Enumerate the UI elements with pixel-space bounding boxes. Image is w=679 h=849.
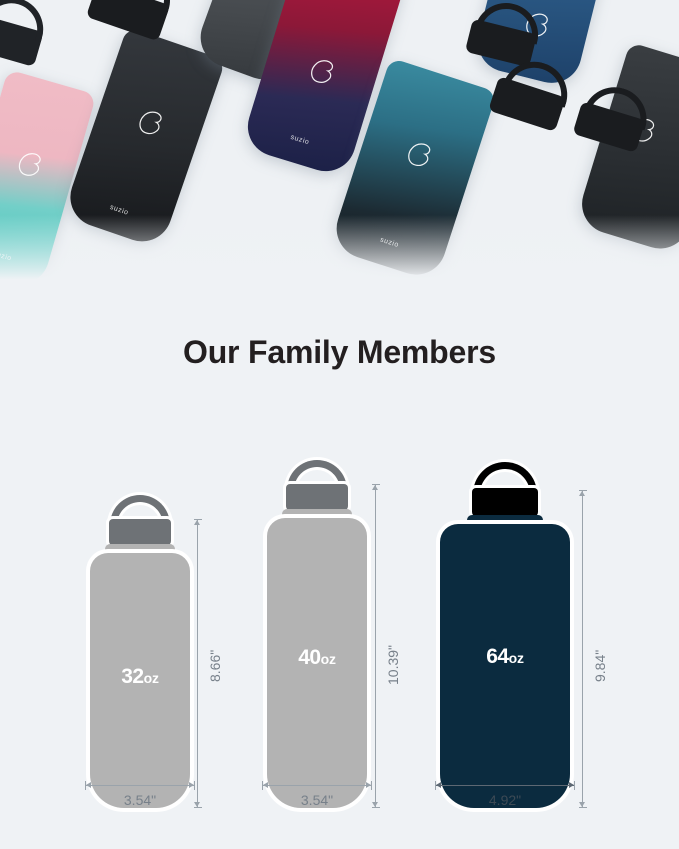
height-dimension-line-40oz <box>375 484 376 808</box>
bottle-capacity-label-64oz: 64oz <box>440 645 570 669</box>
width-label-40oz: 3.54" <box>255 792 379 808</box>
brand-logo-icon <box>9 145 47 186</box>
photo-bottle-brand: suzio <box>290 133 311 145</box>
height-label-40oz: 10.39" <box>383 642 403 688</box>
bottle-cap-40oz <box>286 484 348 511</box>
width-dimension-line-32oz <box>85 785 195 786</box>
height-label-64oz: 9.84" <box>590 647 610 685</box>
product-photo: suzio suzio suzio suzio <box>0 0 679 285</box>
width-dimension-line-64oz <box>435 785 575 786</box>
bottle-cap-32oz <box>109 519 171 546</box>
bottle-diagram-32oz: 32oz 8.66" 3.54" <box>75 440 205 849</box>
height-label-32oz: 8.66" <box>205 647 225 685</box>
bottle-capacity-label-40oz: 40oz <box>267 646 367 670</box>
width-label-64oz: 4.92" <box>430 792 580 808</box>
size-comparison-diagram: 32oz 8.66" 3.54" 40oz 10.39" <box>0 440 679 849</box>
width-dimension-line-40oz <box>262 785 372 786</box>
brand-logo-icon <box>301 52 340 93</box>
brand-logo-icon <box>129 103 168 145</box>
capacity-unit: oz <box>509 650 524 666</box>
width-label-32oz: 3.54" <box>75 792 205 808</box>
capacity-unit: oz <box>144 670 159 686</box>
capacity-unit: oz <box>321 651 336 667</box>
photo-bottle-brand: suzio <box>0 250 13 262</box>
page-title: Our Family Members <box>0 334 679 371</box>
bottle-diagram-40oz: 40oz 10.39" 3.54" <box>255 440 390 849</box>
capacity-number: 32 <box>121 665 143 688</box>
capacity-number: 64 <box>486 645 508 668</box>
height-dimension-line-32oz <box>197 519 198 808</box>
brand-logo-icon <box>398 135 437 177</box>
bottle-capacity-label-32oz: 32oz <box>90 665 190 689</box>
photo-bottle-brand: suzio <box>109 204 130 217</box>
photo-cap <box>0 13 44 67</box>
bottle-diagram-64oz: 64oz 9.84" 4.92" <box>430 440 610 849</box>
photo-cap <box>465 19 537 68</box>
height-dimension-line-64oz <box>582 490 583 808</box>
photo-bottle-brand: suzio <box>379 236 400 249</box>
capacity-number: 40 <box>298 646 320 669</box>
photo-cap <box>488 76 566 132</box>
bottle-cap-64oz <box>472 488 538 517</box>
photo-bottle-black: suzio <box>62 27 225 250</box>
